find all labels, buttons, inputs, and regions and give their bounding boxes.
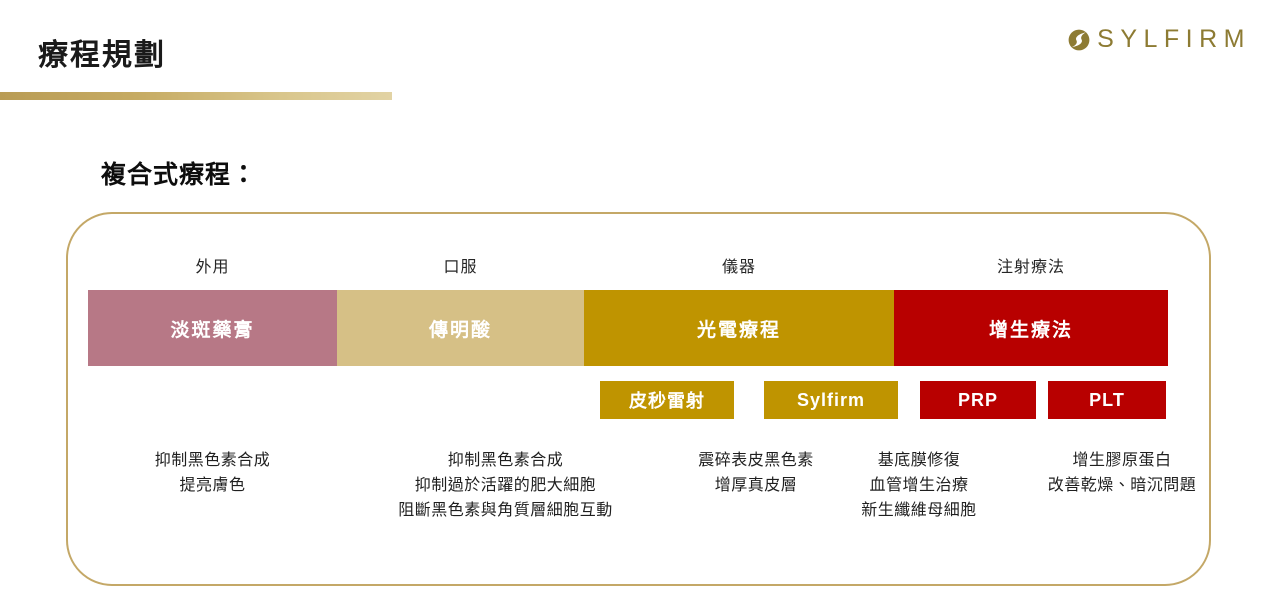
sub-treatment-row: 皮秒雷射 Sylfirm PRP PLT [600,381,1166,419]
description-row: 抑制黑色素合成 提亮膚色 抑制黑色素合成 抑制過於活躍的肥大細胞 阻斷黑色素與角… [88,448,1178,548]
category-label-oral: 口服 [337,256,584,280]
description-sylfirm: 基底膜修復 血管增生治療 新生纖維母細胞 [836,448,1002,523]
treatment-bar-row: 淡斑藥膏 傳明酸 光電療程 增生療法 [88,290,1168,366]
treatment-bar-topical[interactable]: 淡斑藥膏 [88,290,337,366]
sylfirm-circle-mark-icon [1068,29,1090,51]
title-underline-rule [0,92,392,100]
treatment-bar-device[interactable]: 光電療程 [584,290,894,366]
description-picosecond-laser: 震碎表皮黑色素 增厚真皮層 [676,448,836,498]
description-injection: 增生膠原蛋白 改善乾燥、暗沉問題 [1006,448,1238,498]
category-label-injection: 注射療法 [894,256,1168,280]
treatment-bar-oral[interactable]: 傳明酸 [337,290,584,366]
category-label-topical: 外用 [88,256,337,280]
sub-treatment-sylfirm[interactable]: Sylfirm [764,381,898,419]
section-heading: 複合式療程： [101,155,257,191]
sub-treatment-plt[interactable]: PLT [1048,381,1166,419]
category-label-row: 外用 口服 儀器 注射療法 [88,256,1168,280]
page-title: 療程規劃 [38,38,166,74]
sub-treatment-picosecond-laser[interactable]: 皮秒雷射 [600,381,734,419]
treatment-bar-injection[interactable]: 增生療法 [894,290,1168,366]
category-label-device: 儀器 [584,256,894,280]
description-oral: 抑制黑色素合成 抑制過於活躍的肥大細胞 阻斷黑色素與角質層細胞互動 [337,448,674,523]
brand-wordmark: SYLFIRM [1097,27,1251,52]
brand-logo: SYLFIRM [1068,27,1251,52]
sub-treatment-prp[interactable]: PRP [920,381,1036,419]
description-topical: 抑制黑色素合成 提亮膚色 [88,448,337,498]
slide-root: 療程規劃 SYLFIRM 複合式療程： 外用 口服 儀器 注射療法 淡斑藥膏 傳… [0,0,1277,605]
